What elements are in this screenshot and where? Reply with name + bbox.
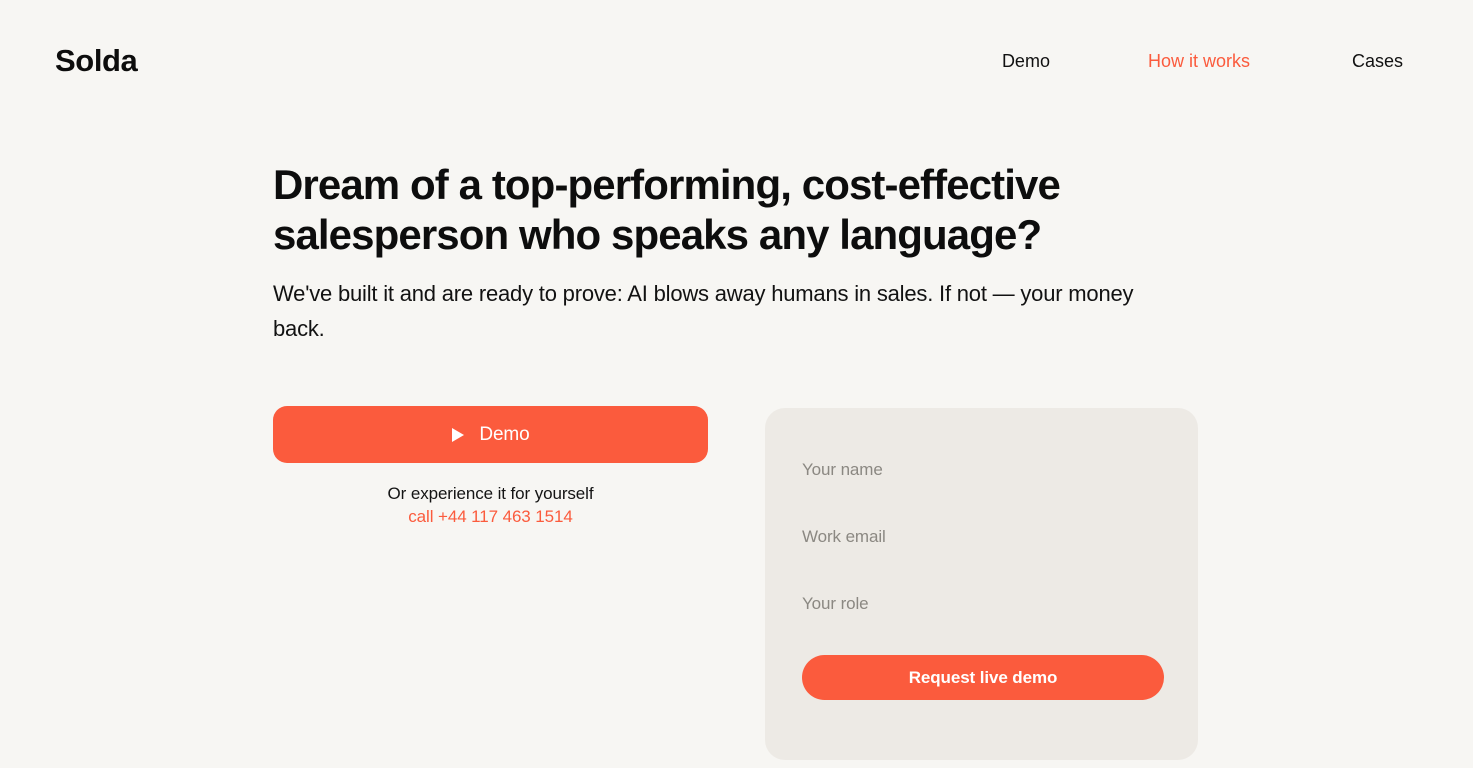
site-header: Solda Demo How it works Cases xyxy=(0,0,1473,120)
landing-page: Solda Demo How it works Cases Dream of a… xyxy=(0,0,1473,768)
main-nav: Demo How it works Cases xyxy=(1002,46,1403,76)
request-live-demo-button[interactable]: Request live demo xyxy=(802,655,1164,700)
work-email-input[interactable] xyxy=(802,526,1160,548)
hero-title: Dream of a top-performing, cost-effectiv… xyxy=(273,160,1093,260)
hero-subtitle: We've built it and are ready to prove: A… xyxy=(273,276,1143,346)
nav-link-cases[interactable]: Cases xyxy=(1352,46,1403,76)
brand-logo[interactable]: Solda xyxy=(55,45,137,76)
cta-subline: Or experience it for yourself call +44 1… xyxy=(273,483,708,528)
cta-subline-text: Or experience it for yourself xyxy=(388,484,594,503)
cta-phone-link[interactable]: call +44 117 463 1514 xyxy=(273,506,708,528)
demo-button[interactable]: Demo xyxy=(273,406,708,463)
hero-section: Dream of a top-performing, cost-effectiv… xyxy=(273,160,1173,346)
your-name-input[interactable] xyxy=(802,459,1160,481)
nav-link-demo[interactable]: Demo xyxy=(1002,46,1050,76)
demo-request-form: Request live demo xyxy=(765,408,1198,760)
cta-column: Demo Or experience it for yourself call … xyxy=(273,406,708,528)
play-icon xyxy=(451,427,465,443)
your-role-input[interactable] xyxy=(802,593,1160,615)
demo-button-label: Demo xyxy=(479,424,529,446)
nav-link-how-it-works[interactable]: How it works xyxy=(1148,46,1250,76)
